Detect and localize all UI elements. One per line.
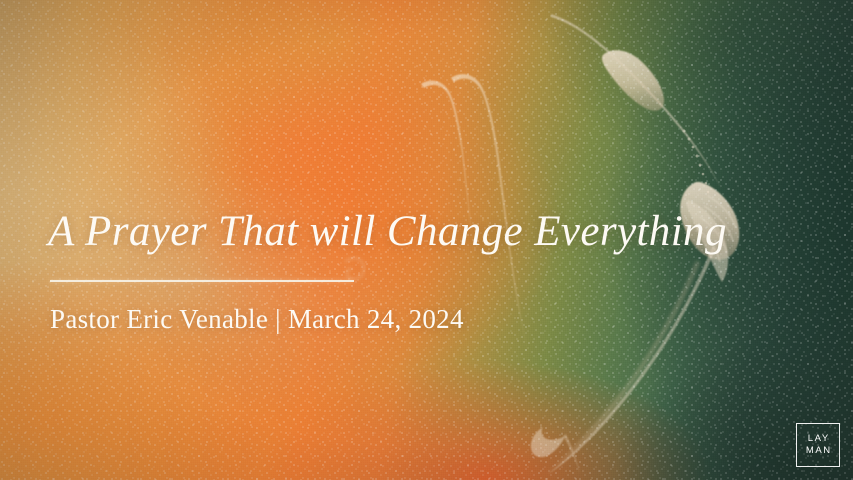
subtitle-separator: | <box>268 303 288 335</box>
logo-line-1: LAY <box>806 434 830 444</box>
slide-title: A Prayer That will Change Everything <box>48 208 727 256</box>
slide-subtitle: Pastor Eric Venable|March 24, 2024 <box>50 303 464 335</box>
logo-line-2: MAN <box>804 446 832 456</box>
subtitle-date: March 24, 2024 <box>288 304 464 334</box>
title-divider-rule <box>50 280 354 282</box>
layman-logo: LAY MAN <box>796 423 840 467</box>
text-content-block: A Prayer That will Change Everything Pas… <box>48 0 808 480</box>
subtitle-speaker: Pastor Eric Venable <box>50 304 268 334</box>
sermon-title-slide: A Prayer That will Change Everything Pas… <box>0 0 853 480</box>
